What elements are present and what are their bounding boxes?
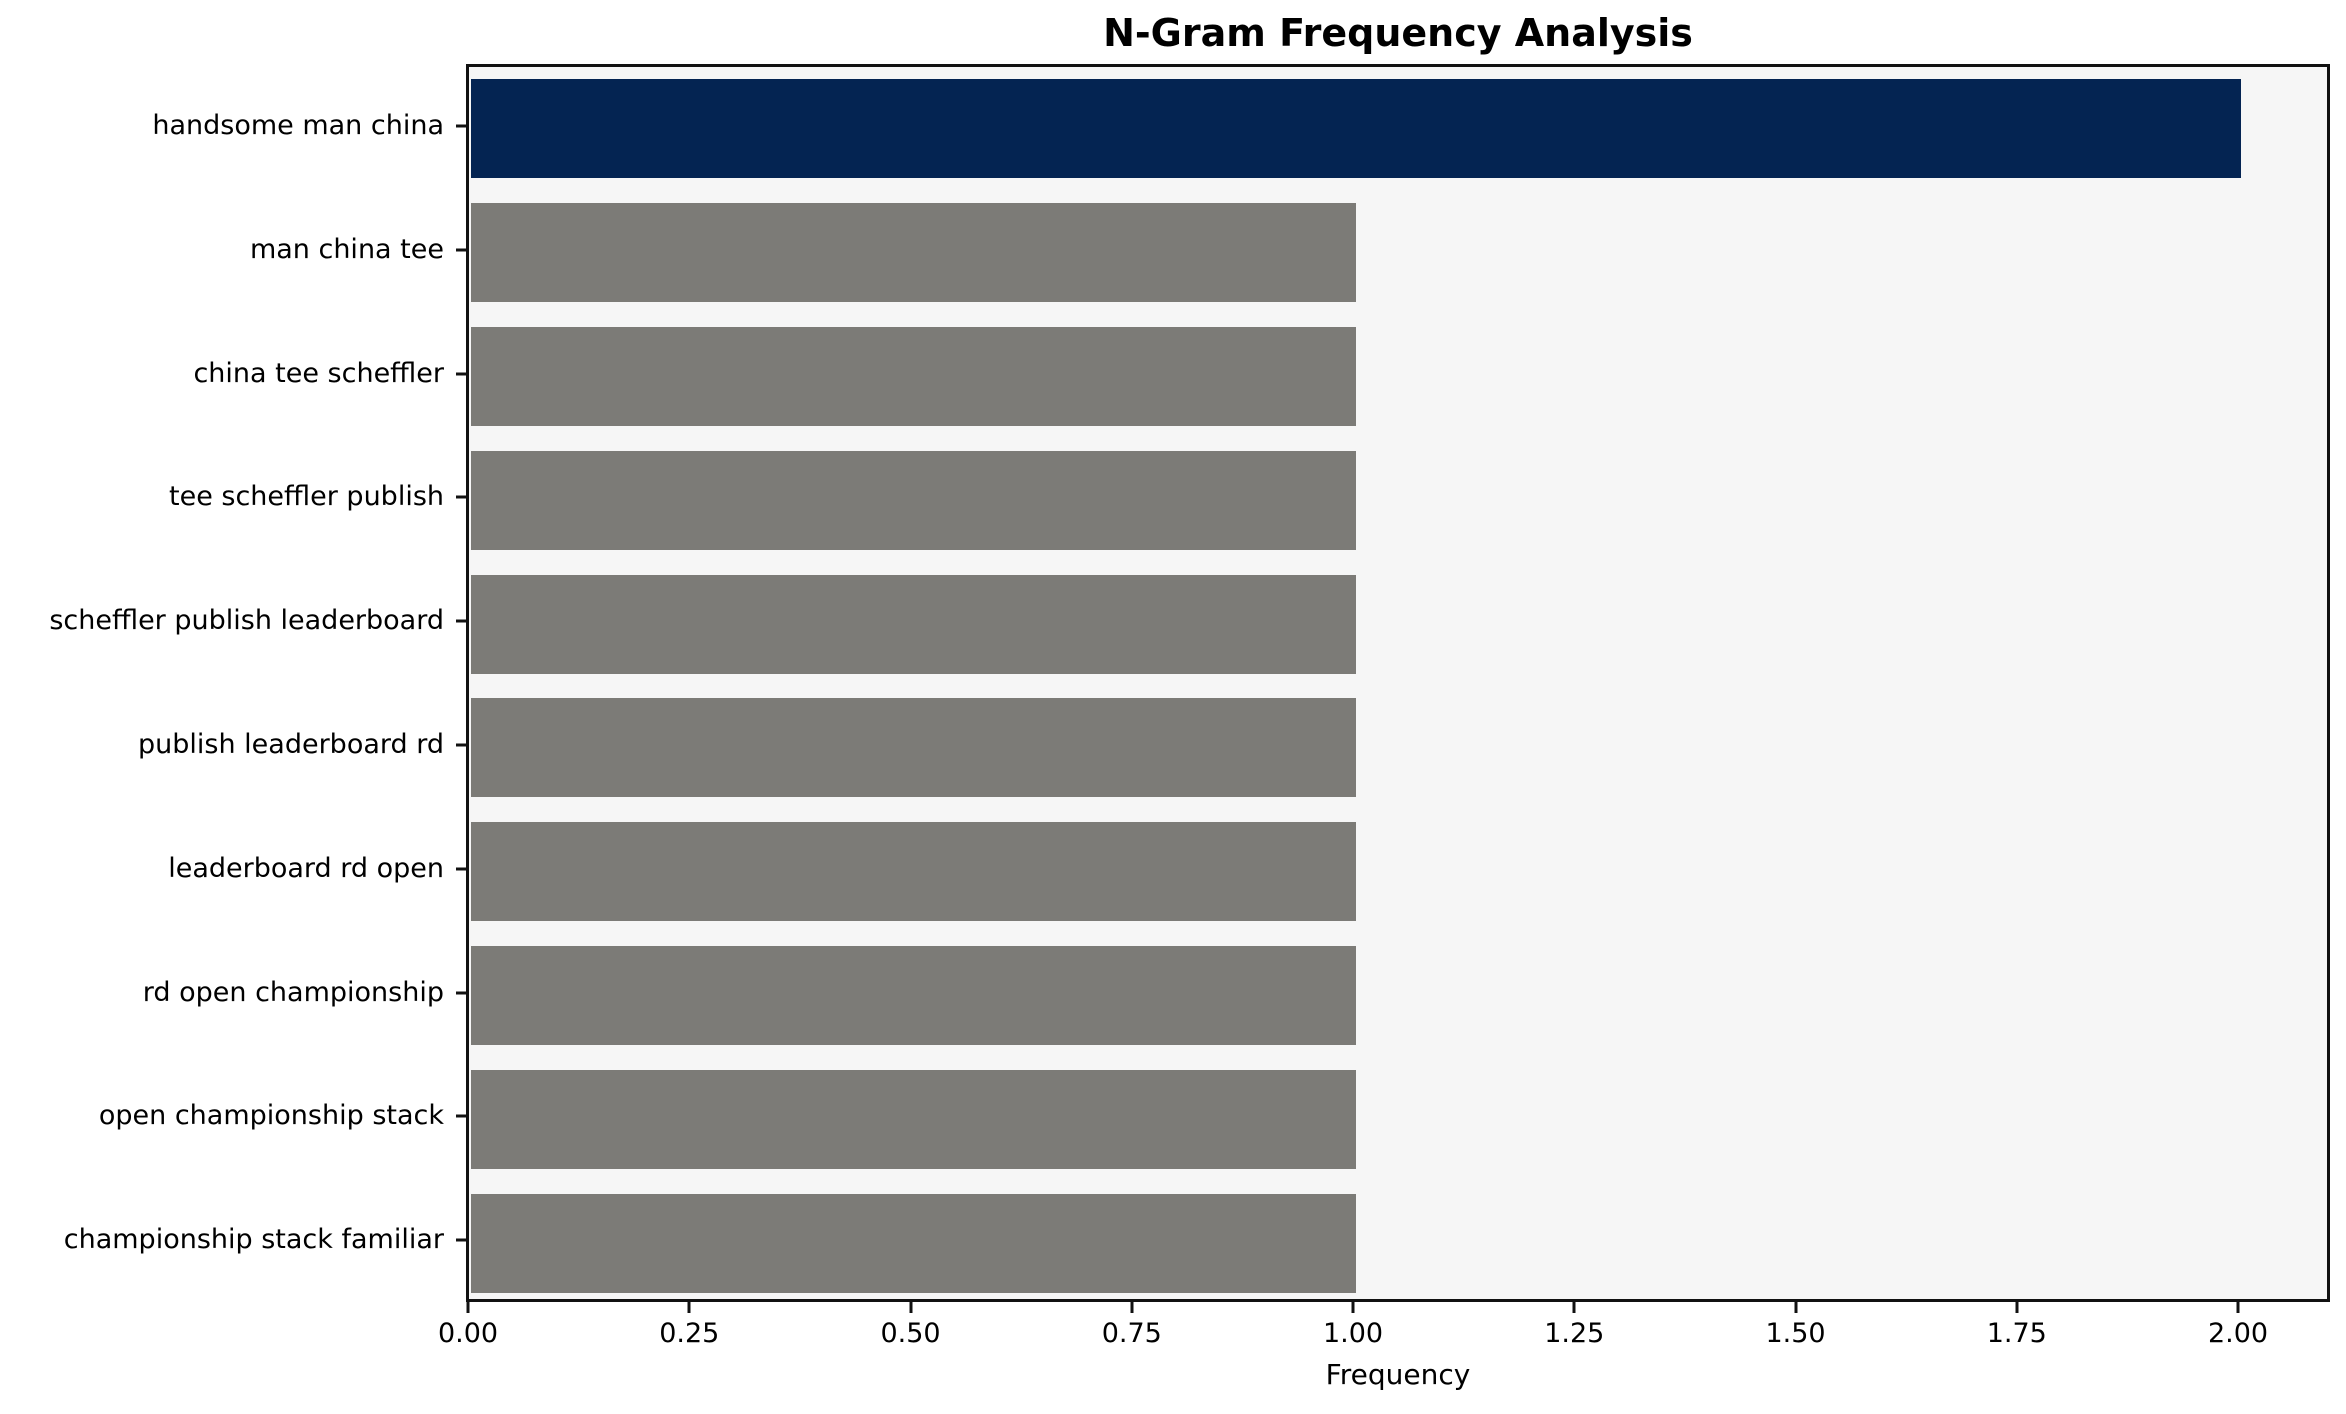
y-tick-mark <box>456 124 466 127</box>
bar[interactable] <box>471 1070 1356 1169</box>
bar-row <box>469 1070 2327 1169</box>
bar[interactable] <box>471 698 1356 797</box>
y-tick-label: handsome man china <box>152 111 444 141</box>
bar[interactable] <box>471 575 1356 674</box>
bar[interactable] <box>471 1194 1356 1293</box>
x-tick-mark <box>2015 1302 2018 1313</box>
bar-row <box>469 79 2327 178</box>
x-tick-label: 0.25 <box>659 1318 719 1350</box>
x-tick-mark <box>1352 1302 1355 1313</box>
y-tick-label: man china tee <box>250 235 444 265</box>
y-tick-label: scheffler publish leaderboard <box>49 606 444 636</box>
bar[interactable] <box>471 946 1356 1045</box>
bars-layer <box>469 67 2327 1299</box>
y-tick-mark <box>456 1115 466 1118</box>
y-tick-mark <box>456 867 466 870</box>
x-axis: 0.000.250.500.751.001.251.501.752.00 <box>466 1302 2330 1362</box>
x-tick-mark <box>909 1302 912 1313</box>
chart-title: N-Gram Frequency Analysis <box>466 8 2330 58</box>
x-tick-label: 1.00 <box>1323 1318 1383 1350</box>
x-tick-label: 1.25 <box>1544 1318 1604 1350</box>
bar[interactable] <box>471 79 2241 178</box>
x-tick-label: 0.50 <box>880 1318 940 1350</box>
x-tick-mark <box>688 1302 691 1313</box>
y-tick-label: china tee scheffler <box>193 359 444 389</box>
x-axis-label: Frequency <box>466 1358 2330 1392</box>
y-tick-label: leaderboard rd open <box>168 854 444 884</box>
y-tick-label: rd open championship <box>143 978 444 1008</box>
bar-row <box>469 575 2327 674</box>
y-tick-label: tee scheffler publish <box>169 482 444 512</box>
x-tick-mark <box>1794 1302 1797 1313</box>
y-tick-mark <box>456 620 466 623</box>
x-tick-mark <box>1573 1302 1576 1313</box>
bar[interactable] <box>471 327 1356 426</box>
bar-row <box>469 822 2327 921</box>
plot-area <box>466 64 2330 1302</box>
bar[interactable] <box>471 451 1356 550</box>
y-tick-mark <box>456 496 466 499</box>
x-tick-label: 0.00 <box>438 1318 498 1350</box>
bar-row <box>469 946 2327 1045</box>
y-axis: handsome man chinaman china teechina tee… <box>0 64 466 1302</box>
y-tick-label: publish leaderboard rd <box>138 730 444 760</box>
y-tick-mark <box>456 248 466 251</box>
bar-row <box>469 203 2327 302</box>
x-tick-label: 2.00 <box>2208 1318 2268 1350</box>
y-tick-mark <box>456 991 466 994</box>
chart-figure: N-Gram Frequency Analysis handsome man c… <box>0 0 2346 1414</box>
y-tick-label: championship stack familiar <box>64 1225 444 1255</box>
y-tick-mark <box>456 1239 466 1242</box>
y-tick-mark <box>456 743 466 746</box>
x-tick-label: 1.75 <box>1987 1318 2047 1350</box>
x-tick-mark <box>467 1302 470 1313</box>
x-tick-label: 1.50 <box>1765 1318 1825 1350</box>
y-tick-mark <box>456 372 466 375</box>
bar[interactable] <box>471 203 1356 302</box>
y-tick-label: open championship stack <box>99 1101 444 1131</box>
x-tick-label: 0.75 <box>1102 1318 1162 1350</box>
x-tick-mark <box>1130 1302 1133 1313</box>
bar-row <box>469 451 2327 550</box>
bar[interactable] <box>471 822 1356 921</box>
x-tick-mark <box>2237 1302 2240 1313</box>
bar-row <box>469 698 2327 797</box>
bar-row <box>469 1194 2327 1293</box>
bar-row <box>469 327 2327 426</box>
